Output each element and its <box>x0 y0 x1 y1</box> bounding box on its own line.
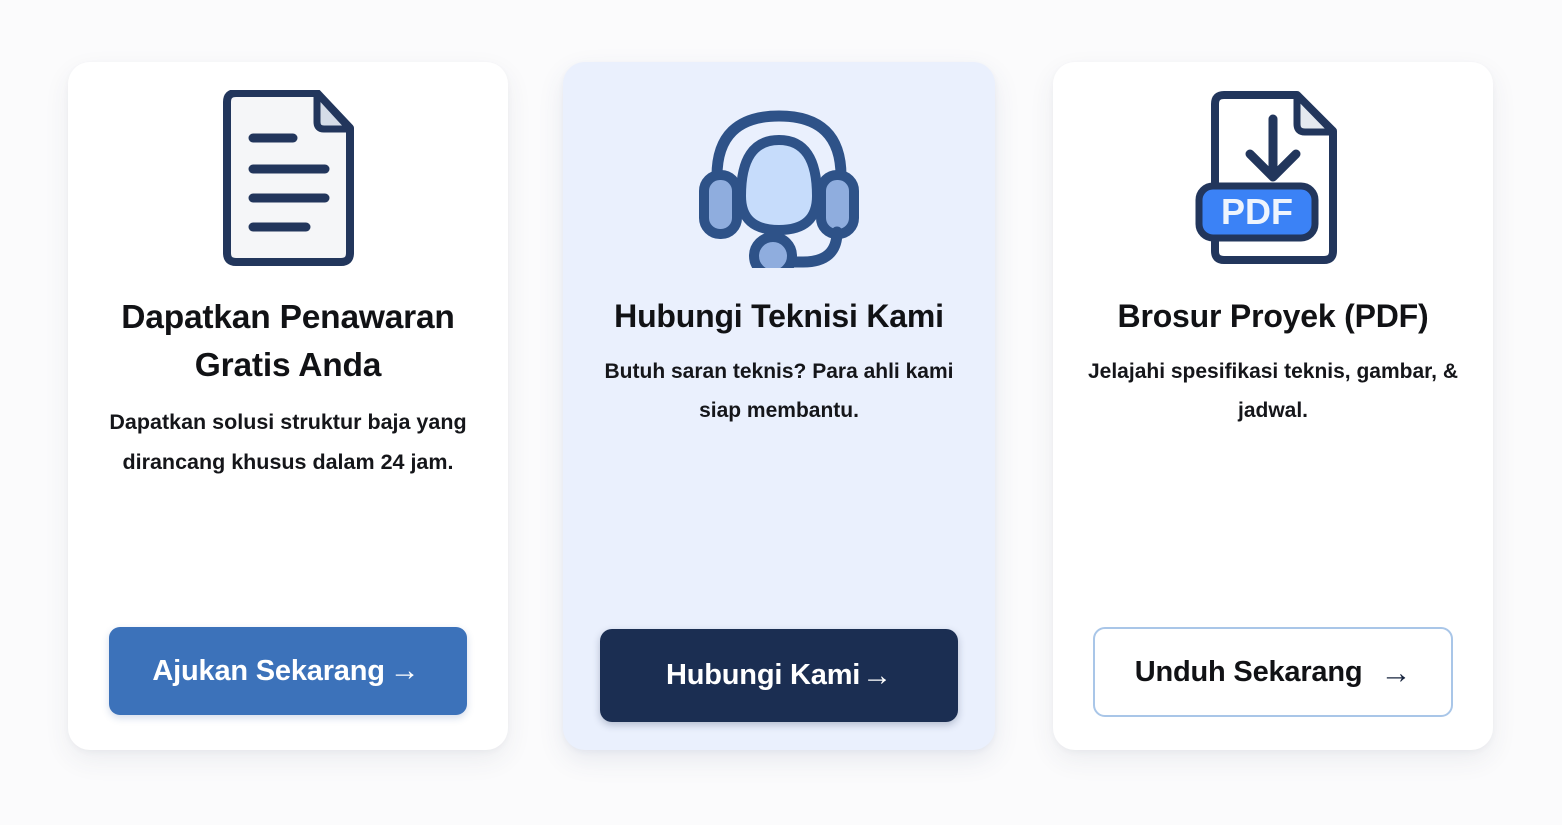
card-contact-technician[interactable]: Hubungi Teknisi Kami Butuh saran teknis?… <box>563 62 995 750</box>
contact-us-button-label: Hubungi Kami <box>666 659 860 692</box>
card-button-row: Ajukan Sekarang→ <box>68 627 508 715</box>
card-button-row: Unduh Sekarang→ <box>1053 627 1493 717</box>
pdf-download-icon-wrap: PDF <box>1053 62 1493 294</box>
arrow-right-icon: → <box>1380 657 1411 688</box>
arrow-right-icon: → <box>390 656 420 686</box>
headset-support-icon-wrap <box>563 62 995 294</box>
card-description: Butuh saran teknis? Para ahli kami siap … <box>563 353 995 431</box>
card-project-brochure[interactable]: PDF Brosur Proyek (PDF) Jelajahi spesifi… <box>1053 62 1493 750</box>
card-title: Hubungi Teknisi Kami <box>563 294 995 339</box>
pdf-download-icon: PDF <box>1193 91 1353 273</box>
document-lines-icon-wrap <box>68 62 508 294</box>
download-now-button-label: Unduh Sekarang <box>1135 656 1363 689</box>
card-get-free-quote[interactable]: Dapatkan Penawaran Gratis Anda Dapatkan … <box>68 62 508 750</box>
cta-card-row: Dapatkan Penawaran Gratis Anda Dapatkan … <box>0 0 1562 825</box>
pdf-badge-text: PDF <box>1221 191 1293 232</box>
arrow-right-icon: → <box>862 661 892 691</box>
card-title: Dapatkan Penawaran Gratis Anda <box>68 294 508 389</box>
apply-now-button-label: Ajukan Sekarang <box>152 655 384 688</box>
download-now-button[interactable]: Unduh Sekarang→ <box>1093 627 1453 717</box>
apply-now-button[interactable]: Ajukan Sekarang→ <box>109 627 467 715</box>
contact-us-button[interactable]: Hubungi Kami→ <box>600 629 958 722</box>
card-button-row: Hubungi Kami→ <box>563 629 995 722</box>
card-description: Dapatkan solusi struktur baja yang diran… <box>68 403 508 483</box>
card-description: Jelajahi spesifikasi teknis, gambar, & j… <box>1053 353 1493 431</box>
document-lines-icon <box>213 90 363 275</box>
card-title: Brosur Proyek (PDF) <box>1053 294 1493 339</box>
headset-support-icon <box>693 96 865 268</box>
